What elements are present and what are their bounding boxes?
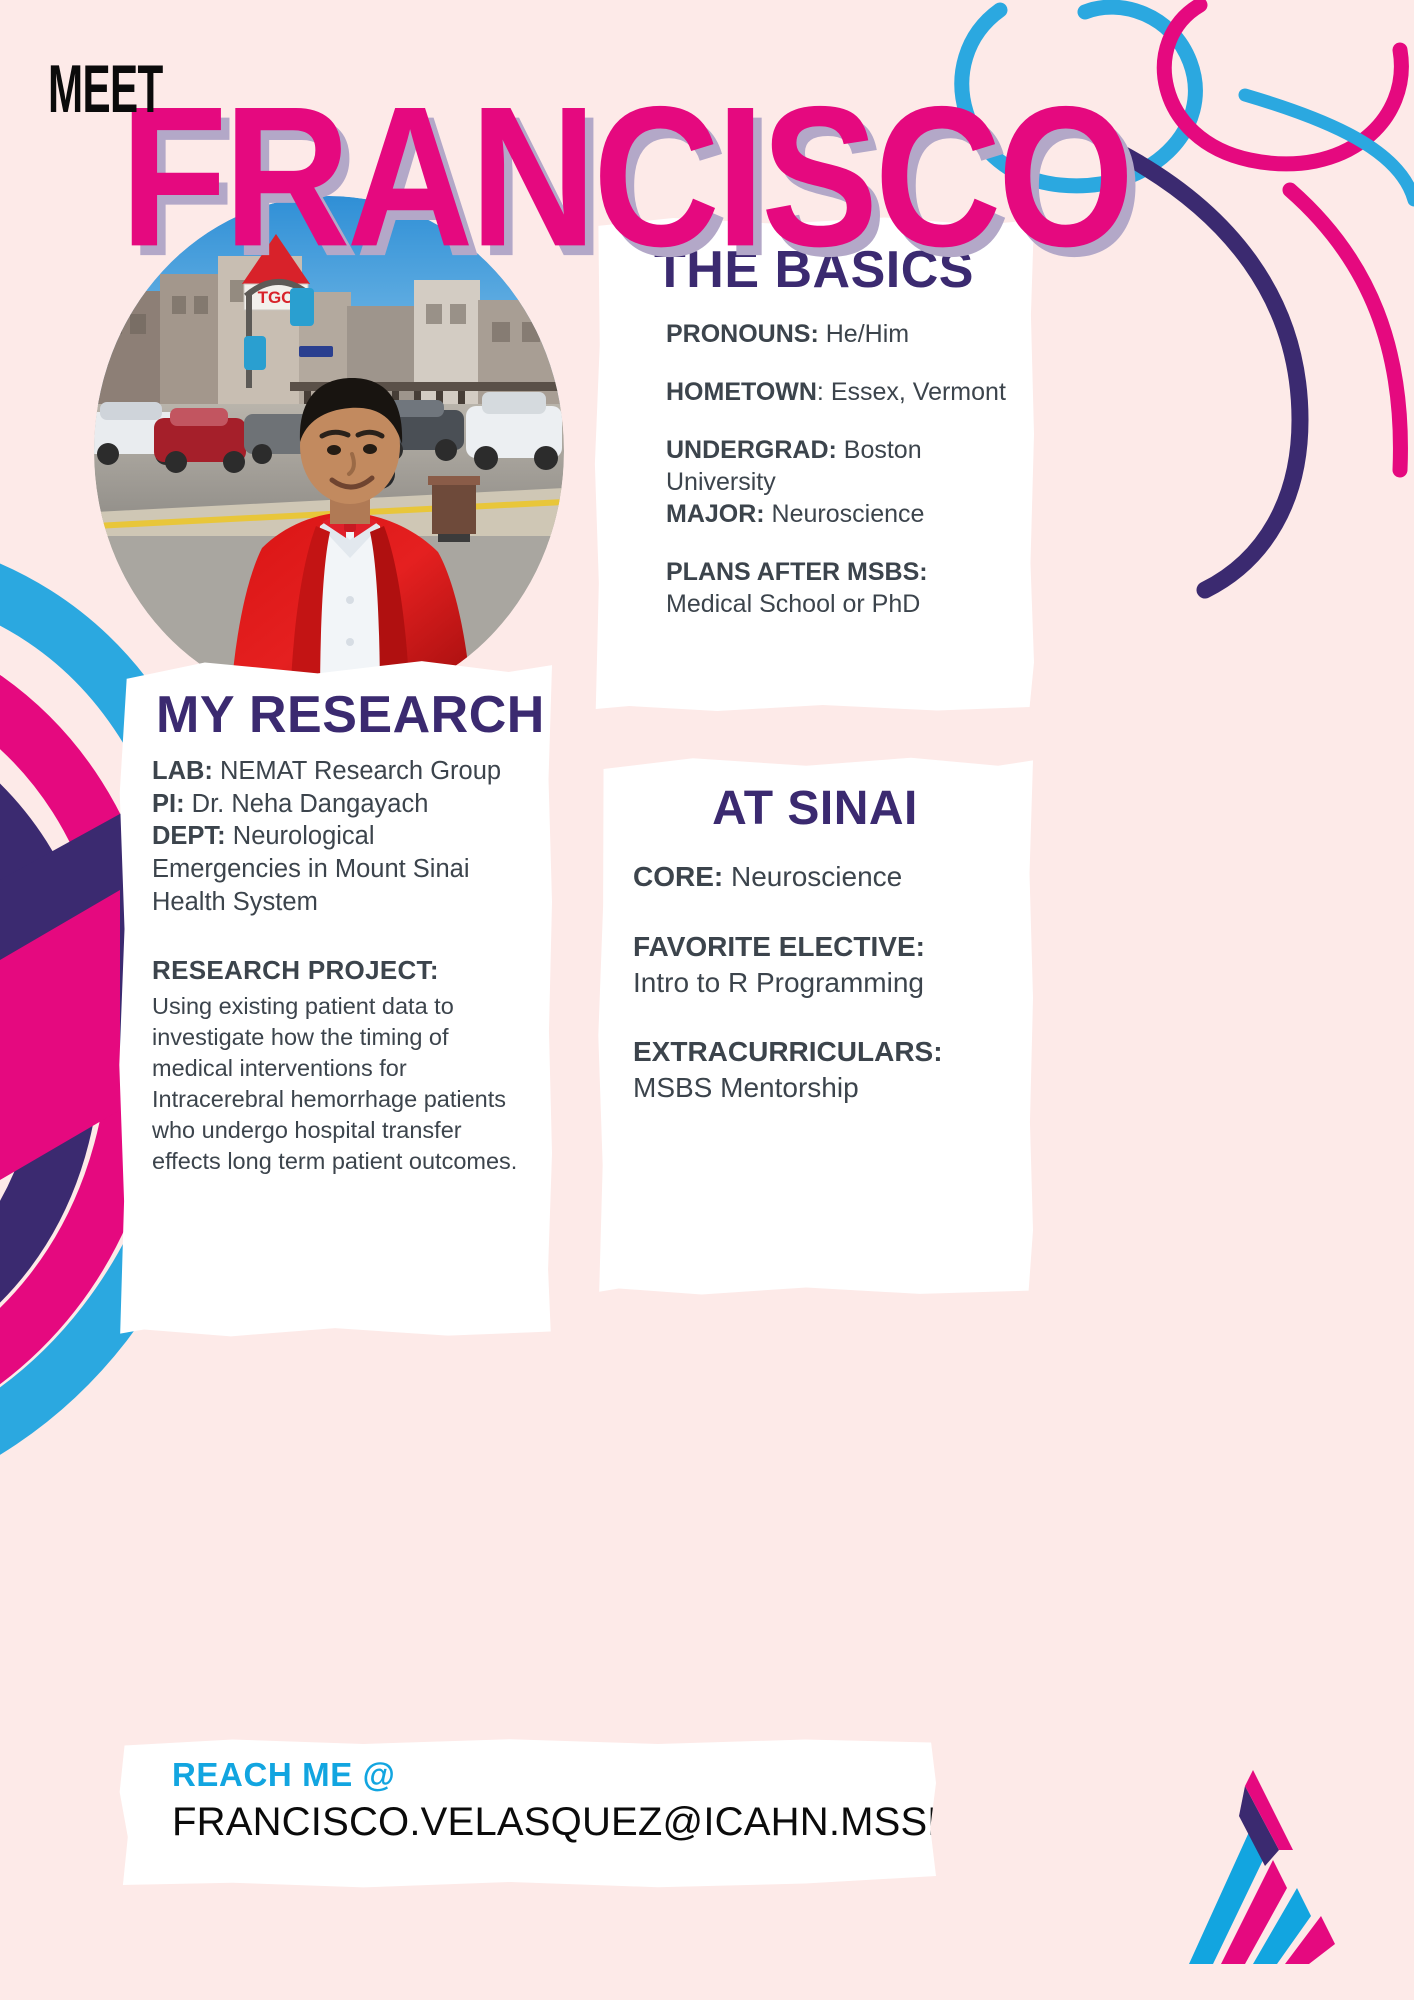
research-pi-value: Dr. Neha Dangayach	[185, 790, 429, 818]
basics-undergrad: UNDERGRAD: Boston University	[666, 434, 1014, 498]
card-my-research: MY RESEARCH LAB: NEMAT Research Group PI…	[118, 657, 552, 1337]
basics-hometown-value: : Essex, Vermont	[817, 378, 1006, 406]
research-lab-label: LAB:	[152, 757, 213, 785]
sinai-title: AT SINAI	[613, 785, 1017, 833]
basics-plans-label: PLANS AFTER MSBS:	[666, 558, 928, 586]
sinai-elective-value: Intro to R Programming	[633, 967, 924, 998]
sinai-extracurriculars: EXTRACURRICULARS: MSBS Mentorship	[633, 1034, 1011, 1106]
basics-plans-value: Medical School or PhD	[666, 590, 920, 618]
mount-sinai-logo	[1093, 1736, 1373, 1966]
basics-hometown: HOMETOWN: Essex, Vermont	[666, 376, 1014, 408]
research-project-text: Using existing patient data to investiga…	[152, 991, 526, 1177]
sinai-core-label: CORE:	[633, 861, 723, 892]
research-lab: LAB: NEMAT Research Group	[152, 755, 526, 788]
research-pi-label: PI:	[152, 790, 185, 818]
sinai-core-value: Neuroscience	[723, 861, 902, 892]
contact-email[interactable]: FRANCISCO.VELASQUEZ@ICAHN.MSSM.EDU	[172, 1800, 936, 1845]
research-dept: DEPT: Neurological Emergencies in Mount …	[152, 820, 526, 918]
basics-pronouns: PRONOUNS: He/Him	[666, 318, 1014, 350]
research-lab-value: NEMAT Research Group	[213, 757, 501, 785]
basics-body: PRONOUNS: He/Him HOMETOWN: Essex, Vermon…	[666, 318, 1014, 620]
basics-undergrad-label: UNDERGRAD:	[666, 436, 837, 464]
research-body: LAB: NEMAT Research Group PI: Dr. Neha D…	[152, 755, 526, 1177]
research-project-heading: RESEARCH PROJECT:	[152, 954, 526, 987]
basics-major-value: Neuroscience	[765, 500, 925, 528]
basics-plans: PLANS AFTER MSBS: Medical School or PhD	[666, 556, 1014, 620]
reach-me-label: REACH ME @	[172, 1756, 936, 1794]
research-pi: PI: Dr. Neha Dangayach	[152, 788, 526, 821]
card-at-sinai: AT SINAI CORE: Neuroscience FAVORITE ELE…	[597, 755, 1033, 1295]
basics-pronouns-label: PRONOUNS:	[666, 320, 819, 348]
sinai-core: CORE: Neuroscience	[633, 859, 1011, 895]
sinai-elective: FAVORITE ELECTIVE: Intro to R Programmin…	[633, 929, 1011, 1001]
research-title: MY RESEARCH	[156, 689, 552, 741]
page-title-name-wrap: FRANCISCO	[120, 78, 1184, 263]
svg-text:TGO: TGO	[258, 288, 295, 307]
sinai-elective-label: FAVORITE ELECTIVE:	[633, 931, 925, 962]
basics-major: MAJOR: Neuroscience	[666, 498, 1014, 530]
sinai-extracurriculars-value: MSBS Mentorship	[633, 1072, 859, 1103]
research-dept-label: DEPT:	[152, 822, 226, 850]
basics-pronouns-value: He/Him	[819, 320, 909, 348]
basics-hometown-label: HOMETOWN	[666, 378, 817, 406]
page-title-name: FRANCISCO	[120, 78, 1131, 278]
page-title-meet: MEET	[48, 55, 163, 123]
poster-canvas: MEET FRANCISCO	[0, 0, 1414, 2000]
basics-major-label: MAJOR:	[666, 500, 765, 528]
sinai-body: CORE: Neuroscience FAVORITE ELECTIVE: In…	[633, 859, 1011, 1106]
contact-inner: REACH ME @ FRANCISCO.VELASQUEZ@ICAHN.MSS…	[118, 1738, 936, 1845]
sinai-extracurriculars-label: EXTRACURRICULARS:	[633, 1036, 943, 1067]
card-contact: REACH ME @ FRANCISCO.VELASQUEZ@ICAHN.MSS…	[118, 1738, 936, 1888]
card-the-basics: THE BASICS PRONOUNS: He/Him HOMETOWN: Es…	[594, 216, 1034, 712]
